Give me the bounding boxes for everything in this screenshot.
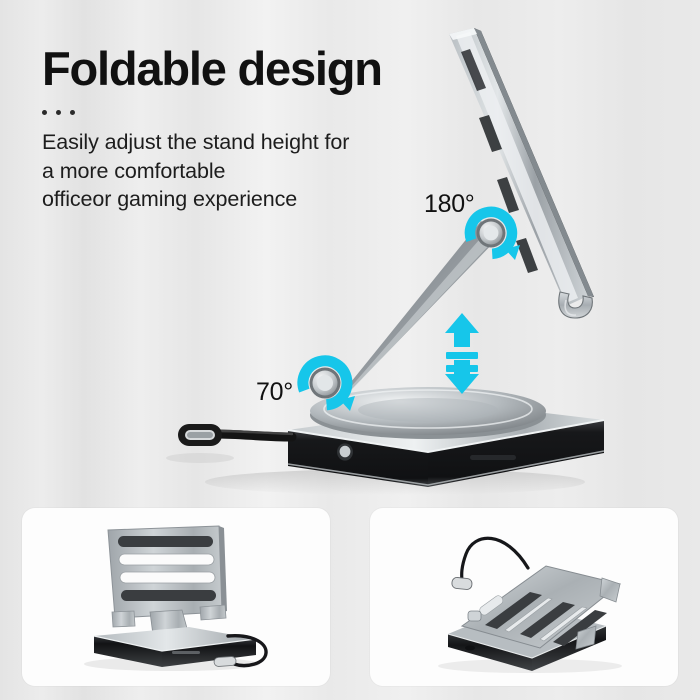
plate-slot-pad — [118, 536, 213, 547]
folded-usb-c-cable — [451, 538, 528, 590]
thumb-folded-illustration — [370, 508, 678, 686]
product-illustration — [0, 0, 700, 500]
folded-latch-button — [468, 611, 481, 621]
plate-hook-left — [112, 611, 135, 627]
support-plate — [449, 28, 594, 318]
folded-usb-c-connector — [451, 577, 472, 590]
thumb-brand-engraving — [172, 651, 200, 654]
thumbnail-card-upright[interactable] — [22, 508, 330, 686]
thumb-usb-c-connector — [214, 656, 237, 667]
plate-slot — [120, 572, 215, 583]
thumb-upright-illustration — [22, 508, 330, 686]
thumbnail-card-folded[interactable] — [370, 508, 678, 686]
folded-port — [465, 646, 475, 651]
usb-c-connector — [178, 424, 222, 446]
up-down-arrow-icon — [445, 313, 479, 394]
plate-slot-pad — [121, 590, 216, 601]
support-arm — [330, 221, 500, 413]
product-feature-graphic: Foldable design Easily adjust the stand … — [0, 0, 700, 700]
plate-hook-right — [200, 605, 226, 620]
plate-slot — [119, 554, 214, 565]
folded-hook-upper — [600, 578, 620, 602]
usb-c-cable — [166, 424, 292, 463]
led-indicator — [337, 443, 353, 460]
base-brand-engraving — [470, 455, 516, 460]
